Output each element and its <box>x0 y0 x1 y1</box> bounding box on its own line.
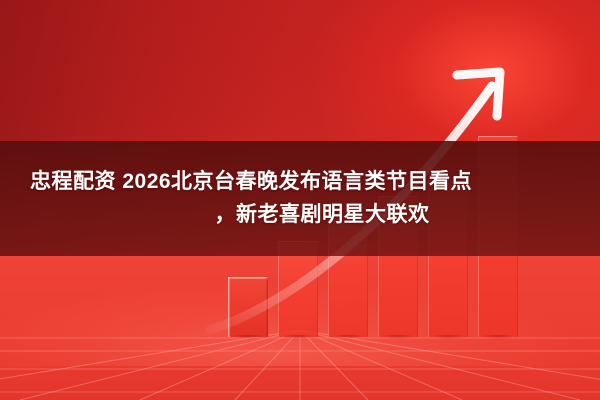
poster-canvas: 忠程配资 2026北京台春晚发布语言类节目看点 ，新老喜剧明星大联欢 <box>0 0 600 400</box>
poster-headline: 忠程配资 2026北京台春晚发布语言类节目看点 ，新老喜剧明星大联欢 <box>0 141 600 256</box>
bar-1 <box>228 277 268 337</box>
headline-line-1: 忠程配资 2026北京台春晚发布语言类节目看点 <box>30 169 472 195</box>
headline-line-2: ，新老喜剧明星大联欢 <box>215 202 430 228</box>
